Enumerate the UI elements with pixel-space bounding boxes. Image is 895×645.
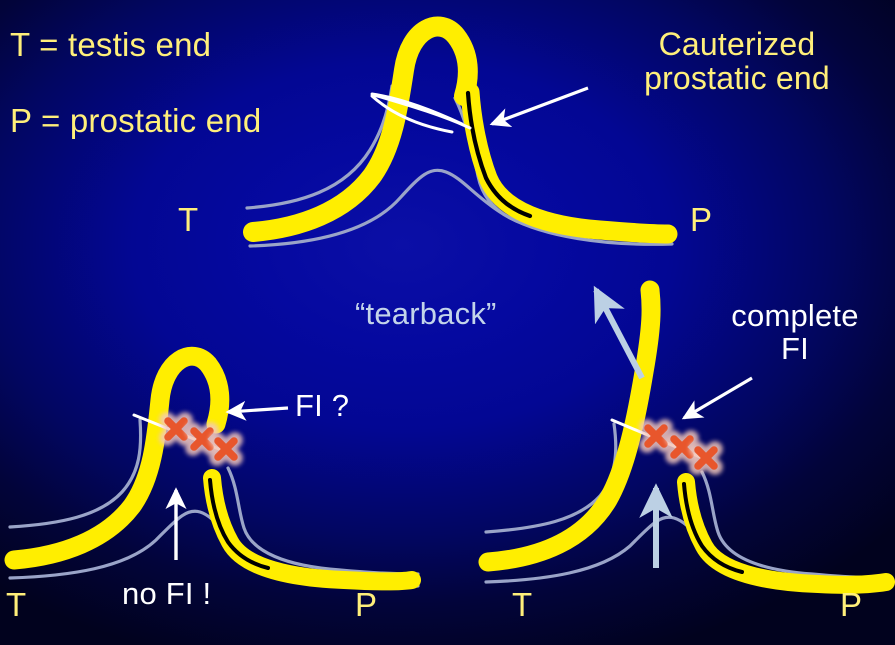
cauterized-label-line2: prostatic end xyxy=(592,62,882,96)
complete-fi-line1: complete xyxy=(700,300,890,333)
tearback-arrow-icon xyxy=(596,290,642,378)
x-mark-icon xyxy=(167,420,185,438)
bottom-left-prostate-label: P xyxy=(355,588,377,623)
complete-fi-line2: FI xyxy=(700,333,890,366)
x-mark-icon xyxy=(673,438,691,456)
bl-vas-testis-limb xyxy=(14,356,220,560)
bottom-right-testis-label: T xyxy=(512,588,532,623)
top-callout-arrow xyxy=(492,88,588,124)
slide-canvas: T = testis end P = prostatic end Cauteri… xyxy=(0,0,895,645)
bottom-left-testis-label: T xyxy=(6,588,26,623)
br-vas-prostatic-limb xyxy=(686,482,886,585)
complete-fi-label: complete FI xyxy=(700,300,890,365)
bl-fi-arrow xyxy=(228,408,288,412)
top-panel-testis-label: T xyxy=(178,203,198,238)
x-mark-icon xyxy=(697,449,715,467)
bottom-right-prostate-label: P xyxy=(840,588,862,623)
no-fi-label: no FI ! xyxy=(122,578,211,611)
cauterized-prostatic-end-label: Cauterized prostatic end xyxy=(592,28,882,95)
x-mark-icon xyxy=(647,427,665,445)
tearback-label: “tearback” xyxy=(355,298,497,331)
legend-testis-end: T = testis end xyxy=(10,28,211,63)
br-complete-fi-arrow xyxy=(684,378,752,418)
top-panel-prostate-label: P xyxy=(690,203,712,238)
cauterized-label-line1: Cauterized xyxy=(592,28,882,62)
panel-bottom-left xyxy=(10,356,418,586)
br-x-marks xyxy=(647,427,715,467)
fi-question-label: FI ? xyxy=(295,390,349,423)
x-mark-icon xyxy=(193,430,211,448)
legend-prostatic-end: P = prostatic end xyxy=(10,104,261,139)
x-mark-icon xyxy=(217,440,235,458)
